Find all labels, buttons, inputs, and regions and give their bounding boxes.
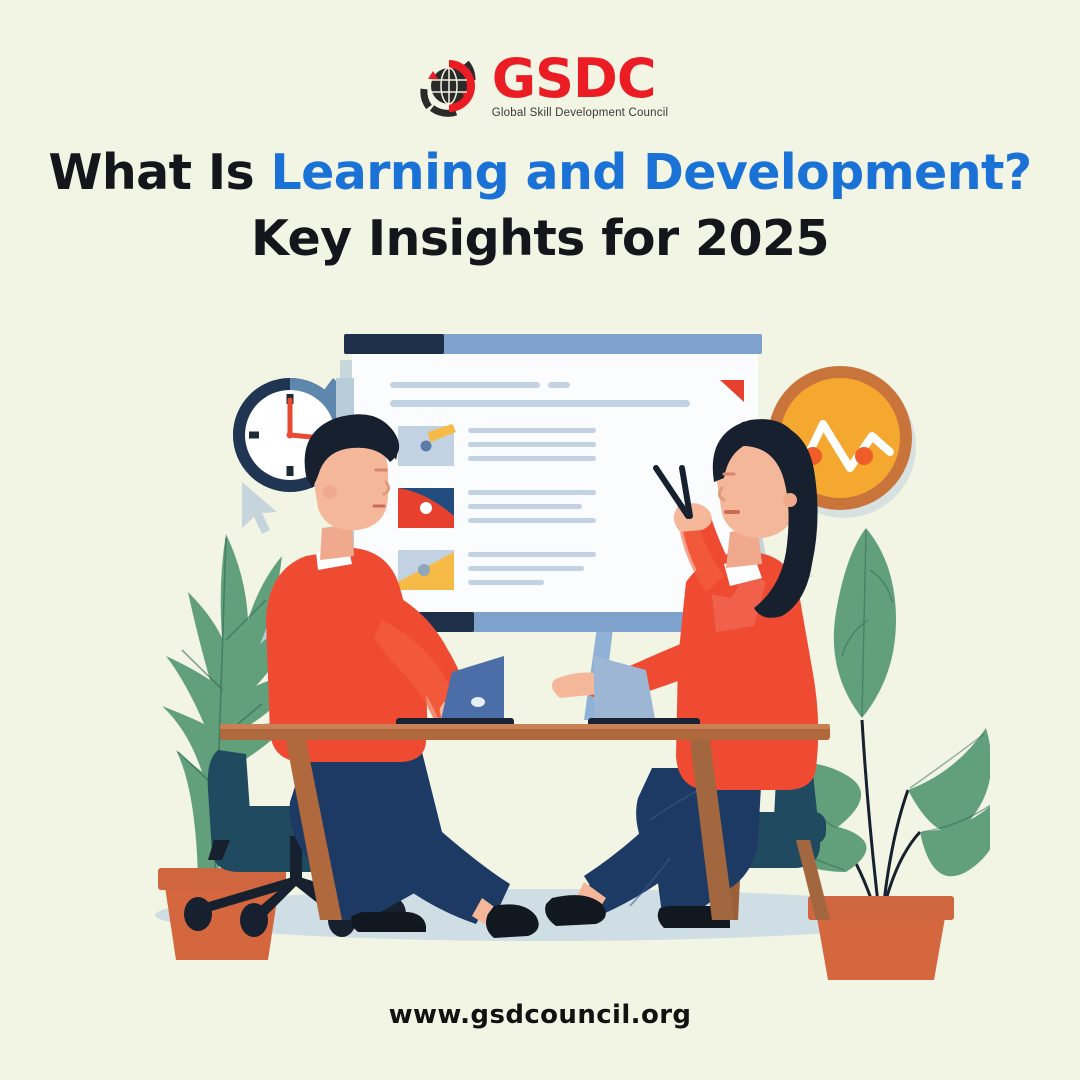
globe-arrows-icon — [412, 49, 486, 123]
headline-line-1-dark: What Is — [48, 144, 270, 201]
logo-wordmark: GSDC — [492, 54, 656, 104]
brand-logo: GSDC Global Skill Development Council — [0, 44, 1080, 128]
headline-line-1: What Is Learning and Development? — [0, 140, 1080, 206]
headline-line-1-accent: Learning and Development? — [271, 144, 1032, 201]
logo-tagline: Global Skill Development Council — [492, 107, 668, 119]
social-card: GSDC Global Skill Development Council Wh… — [0, 0, 1080, 1080]
hero-illustration — [90, 320, 990, 980]
headline-line-2: Key Insights for 2025 — [0, 206, 1080, 272]
page-title: What Is Learning and Development? Key In… — [0, 140, 1080, 272]
footer-website-url[interactable]: www.gsdcouncil.org — [0, 1000, 1080, 1030]
